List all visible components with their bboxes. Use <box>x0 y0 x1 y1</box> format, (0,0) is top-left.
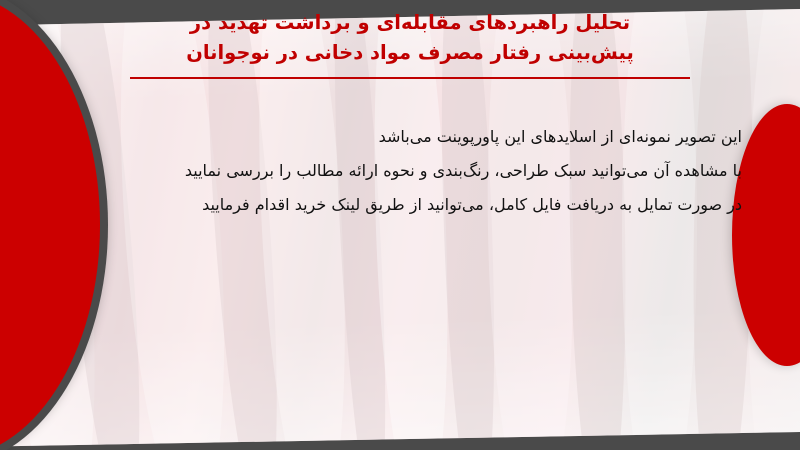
presentation-slide: تحلیل راهبردهای مقابله‌ای و برداشت تهدید… <box>0 0 800 450</box>
slide-title-line-2: پیش‌بینی رفتار مصرف مواد دخانی در نوجوان… <box>60 38 760 68</box>
slide-body-line-2: با مشاهده آن می‌توانید سبک طراحی، رنگ‌بن… <box>185 154 742 188</box>
title-underline <box>130 77 690 79</box>
slide-body-line-3: در صورت تمایل به دریافت فایل کامل، می‌تو… <box>185 188 742 222</box>
slide-body-text: این تصویر نمونه‌ای از اسلایدهای این پاور… <box>185 120 742 222</box>
slide-title-line-1: تحلیل راهبردهای مقابله‌ای و برداشت تهدید… <box>60 8 760 38</box>
slide-body-line-1: این تصویر نمونه‌ای از اسلایدهای این پاور… <box>185 120 742 154</box>
slide-title: تحلیل راهبردهای مقابله‌ای و برداشت تهدید… <box>60 8 760 68</box>
